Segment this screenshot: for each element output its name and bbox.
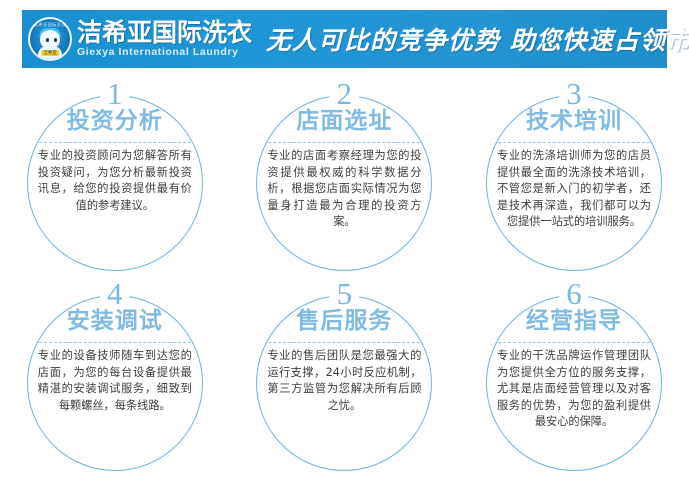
service-cards-grid: 1 投资分析 专业的投资顾问为您解答所有投资疑问，为您分析最新投资讯息，给您的投… xyxy=(0,80,689,480)
card-number: 4 xyxy=(100,278,130,309)
mascot-badge-icon: 洁希亚国际洗衣 洁希亚 xyxy=(28,17,72,61)
card-title: 售后服务 xyxy=(296,308,392,334)
header-banner: 洁希亚国际洗衣 洁希亚 洁希亚国际洗衣 Giexya International… xyxy=(22,10,667,68)
card-body-text: 专业的干洗品牌运作管理团队为您提供全方位的服务支撑，尤其是店面经营管理以及对客服… xyxy=(497,348,651,431)
mascot-eye-right xyxy=(54,38,57,42)
card-body-text: 专业的洗涤培训师为您的店员提供最全面的洗涤技术培训，不管您是新入门的初学者，还是… xyxy=(497,148,651,231)
card-row-bottom: 4 安装调试 专业的设备技师随车到达您的店面，为您的每台设备提供最精湛的安装调试… xyxy=(0,280,689,480)
card-body-text: 专业的设备技师随车到达您的店面，为您的每台设备提供最精湛的安装调试服务，细致到每… xyxy=(38,348,192,414)
card-divider xyxy=(498,342,650,343)
card-divider xyxy=(39,142,191,143)
service-card: 6 经营指导 专业的干洗品牌运作管理团队为您提供全方位的服务支撑，尤其是店面经营… xyxy=(459,280,689,480)
service-card: 3 技术培训 专业的洗涤培训师为您的店员提供最全面的洗涤技术培训，不管您是新入门… xyxy=(459,80,689,280)
card-body-text: 专业的投资顾问为您解答所有投资疑问，为您分析最新投资讯息，给您的投资提供最有价值… xyxy=(38,148,192,214)
card-number: 6 xyxy=(559,278,589,309)
card-divider xyxy=(498,142,650,143)
service-card: 2 店面选址 专业的店面考察经理为您的投资提供最权威的科学数据分析，根据您店面实… xyxy=(230,80,460,280)
card-title: 经营指导 xyxy=(526,308,622,334)
service-card: 4 安装调试 专业的设备技师随车到达您的店面，为您的每台设备提供最精湛的安装调试… xyxy=(0,280,230,480)
card-row-top: 1 投资分析 专业的投资顾问为您解答所有投资疑问，为您分析最新投资讯息，给您的投… xyxy=(0,80,689,280)
card-number: 3 xyxy=(559,78,589,109)
mascot-eye-left xyxy=(46,38,49,42)
service-card: 1 投资分析 专业的投资顾问为您解答所有投资疑问，为您分析最新投资讯息，给您的投… xyxy=(0,80,230,280)
card-title: 店面选址 xyxy=(296,108,392,134)
card-title: 安装调试 xyxy=(67,308,163,334)
brand-name-english: Giexya International Laundry xyxy=(77,47,252,58)
card-number: 5 xyxy=(330,278,360,309)
card-divider xyxy=(268,342,420,343)
card-number: 2 xyxy=(330,78,360,109)
card-title: 投资分析 xyxy=(67,108,163,134)
card-title: 技术培训 xyxy=(526,108,622,134)
badge-chip-label: 洁希亚 xyxy=(41,50,59,56)
card-number: 1 xyxy=(100,78,130,109)
brand-logo: 洁希亚国际洗衣 洁希亚 洁希亚国际洗衣 Giexya International… xyxy=(28,17,252,61)
brand-text: 洁希亚国际洗衣 Giexya International Laundry xyxy=(77,20,252,58)
card-body-text: 专业的售后团队是您最强大的运行支撑，24小时反应机制，第三方监管为您解决所有后顾… xyxy=(267,348,421,414)
service-card: 5 售后服务 专业的售后团队是您最强大的运行支撑，24小时反应机制，第三方监管为… xyxy=(230,280,460,480)
banner-slogan: 无人可比的竞争优势 助您快速占领市场 xyxy=(266,21,689,57)
card-divider xyxy=(39,342,191,343)
brand-name-chinese: 洁希亚国际洗衣 xyxy=(77,20,252,45)
card-divider xyxy=(268,142,420,143)
card-body-text: 专业的店面考察经理为您的投资提供最权威的科学数据分析，根据您店面实际情况为您量身… xyxy=(267,148,421,231)
